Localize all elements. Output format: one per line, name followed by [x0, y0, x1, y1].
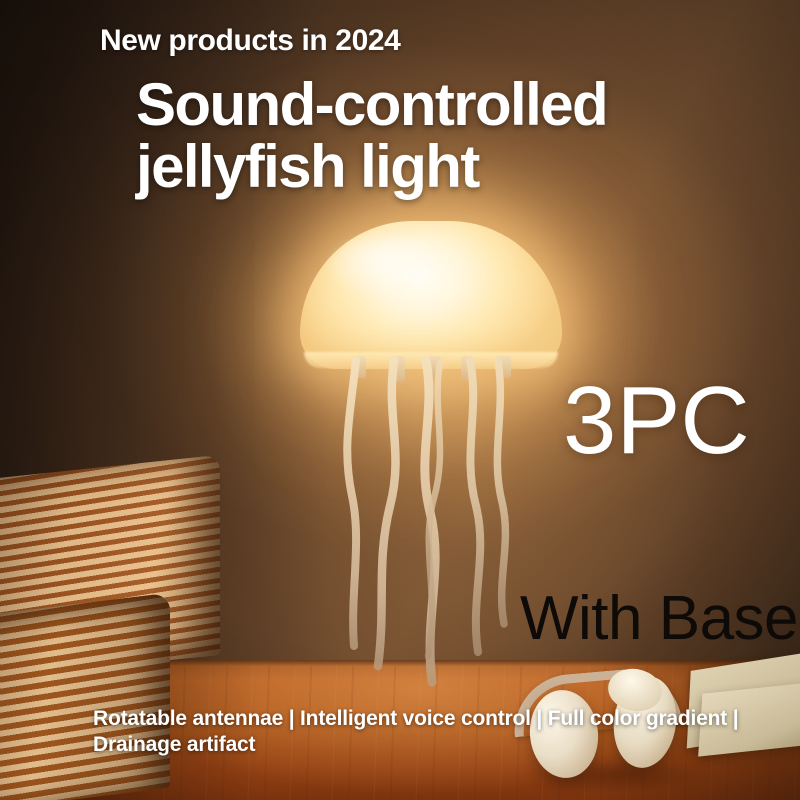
striped-pillow-front-shading — [0, 593, 170, 800]
feature-list-text: Rotatable antennae | Intelligent voice c… — [93, 706, 743, 757]
eyebrow-text: New products in 2024 — [100, 24, 400, 58]
with-base-badge: With Base — [520, 583, 798, 654]
dome-highlight — [330, 236, 450, 298]
title-line-1: Sound-controlled — [136, 74, 607, 136]
product-ad-image: New products in 2024 Sound-controlled je… — [0, 0, 800, 800]
jellyfish-tentacles — [320, 356, 550, 696]
title-line-2: jellyfish light — [136, 136, 607, 198]
page-title: Sound-controlled jellyfish light — [136, 74, 607, 199]
quantity-badge: 3PC — [563, 366, 750, 476]
